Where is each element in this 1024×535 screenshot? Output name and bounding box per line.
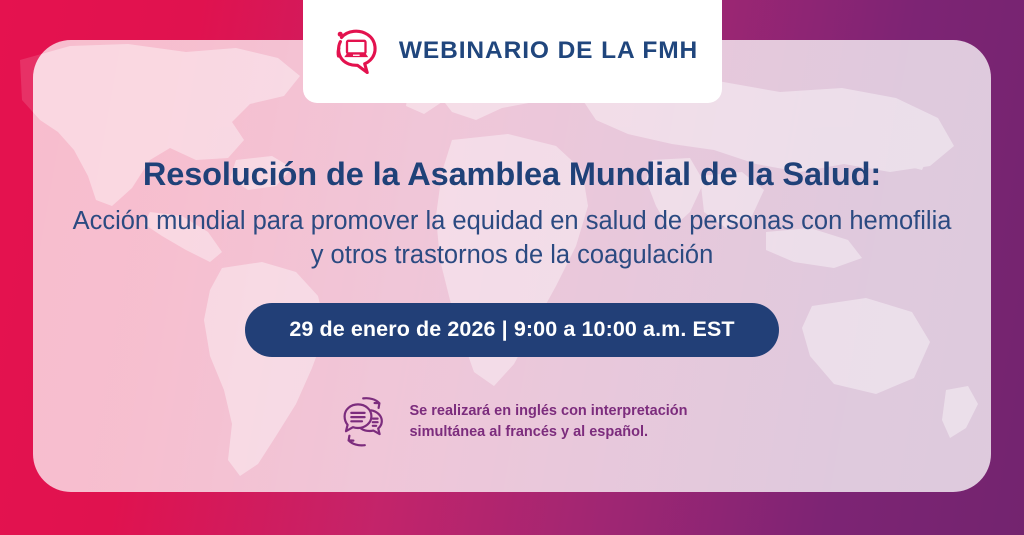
language-note-text: Se realizará en inglés con interpretació… xyxy=(409,401,687,443)
translation-speech-bubbles-icon xyxy=(336,394,392,450)
brand-label: WEBINARIO DE LA FMH xyxy=(399,37,698,65)
date-time-pill[interactable]: 29 de enero de 2026 | 9:00 a 10:00 a.m. … xyxy=(245,303,778,357)
header-badge: WEBINARIO DE LA FMH xyxy=(303,0,722,103)
banner-content: Resolución de la Asamblea Mundial de la … xyxy=(0,104,1024,535)
page-subtitle: Acción mundial para promover la equidad … xyxy=(72,204,952,272)
language-note: Se realizará en inglés con interpretació… xyxy=(336,394,687,450)
webinar-speech-bubble-laptop-icon xyxy=(327,25,383,77)
page-title: Resolución de la Asamblea Mundial de la … xyxy=(143,155,881,194)
webinar-banner: WEBINARIO DE LA FMH Resolución de la Asa… xyxy=(0,0,1024,535)
brand-lockup: WEBINARIO DE LA FMH xyxy=(327,25,698,77)
